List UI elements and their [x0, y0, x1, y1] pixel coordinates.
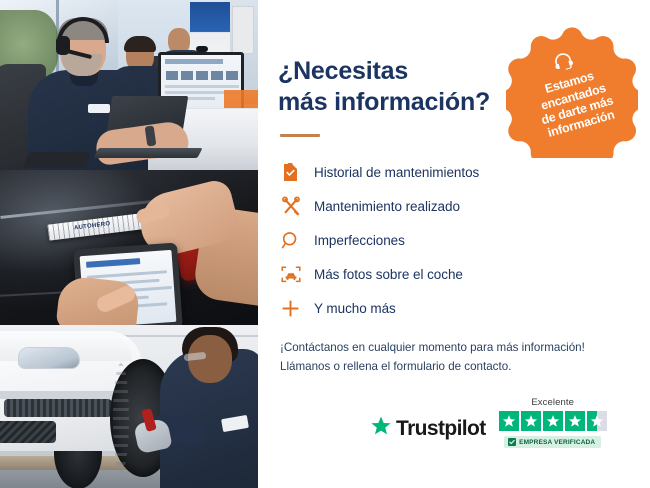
trustpilot-rating[interactable]: Trustpilot Excelente EMPRESA VERIFICADA: [370, 397, 607, 448]
verified-business-badge: EMPRESA VERIFICADA: [504, 436, 601, 448]
feature-list: Historial de mantenimientos Mantenimient…: [280, 155, 628, 325]
plus-icon: [280, 298, 301, 319]
tools-cross-icon: [280, 196, 301, 217]
feature-label: Imperfecciones: [314, 233, 405, 248]
page-title-line-2: más información?: [278, 88, 490, 116]
feature-label: Mantenimiento realizado: [314, 199, 460, 214]
star-box: [499, 411, 519, 431]
star-box: [521, 411, 541, 431]
car-inspection-ruler-tablet-photo: AUTOHERO: [0, 170, 258, 325]
trustpilot-star-icon: [370, 415, 392, 442]
mechanic-wheel-inspection-photo: [0, 325, 258, 488]
list-item: Historial de mantenimientos: [280, 155, 628, 189]
check-icon: [508, 438, 516, 446]
contact-paragraph-line-2: Llámanos o rellena el formulario de cont…: [280, 360, 511, 373]
contact-paragraph-line-1: ¡Contáctanos en cualquier momento para m…: [280, 341, 585, 354]
car-scan-icon: [280, 264, 301, 285]
page-title-line-1: ¿Necesitas: [278, 57, 408, 85]
trustpilot-logo[interactable]: Trustpilot: [370, 415, 486, 448]
title-underline-divider: [280, 134, 320, 137]
star-box-half: [587, 411, 607, 431]
list-item: Más fotos sobre el coche: [280, 257, 628, 291]
document-check-icon: [280, 162, 301, 183]
magnifier-icon: [280, 230, 301, 251]
promo-starburst-badge: Estamos encantados de darte más informac…: [506, 26, 638, 158]
page-title: ¿Necesitas más información?: [278, 56, 503, 117]
trustpilot-wordmark: Trustpilot: [396, 417, 486, 441]
verified-badge-label: EMPRESA VERIFICADA: [519, 439, 595, 446]
list-item: Mantenimiento realizado: [280, 189, 628, 223]
information-banner: AUTOHERO: [0, 0, 650, 488]
star-box: [543, 411, 563, 431]
photo-column: AUTOHERO: [0, 0, 258, 488]
feature-label: Historial de mantenimientos: [314, 165, 479, 180]
list-item: Y mucho más: [280, 291, 628, 325]
feature-label: Más fotos sobre el coche: [314, 267, 463, 282]
trustpilot-score-block: Excelente EMPRESA VERIFICADA: [499, 397, 607, 448]
list-item: Imperfecciones: [280, 223, 628, 257]
starburst-shape: [506, 26, 638, 158]
trustpilot-rating-label: Excelente: [531, 397, 574, 408]
trustpilot-stars: [499, 411, 607, 431]
contact-paragraph: ¡Contáctanos en cualquier momento para m…: [280, 339, 628, 377]
call-centre-agent-headset-photo: [0, 0, 258, 170]
feature-label: Y mucho más: [314, 301, 396, 316]
content-panel: ¿Necesitas más información? Historial de…: [258, 0, 650, 488]
star-box: [565, 411, 585, 431]
